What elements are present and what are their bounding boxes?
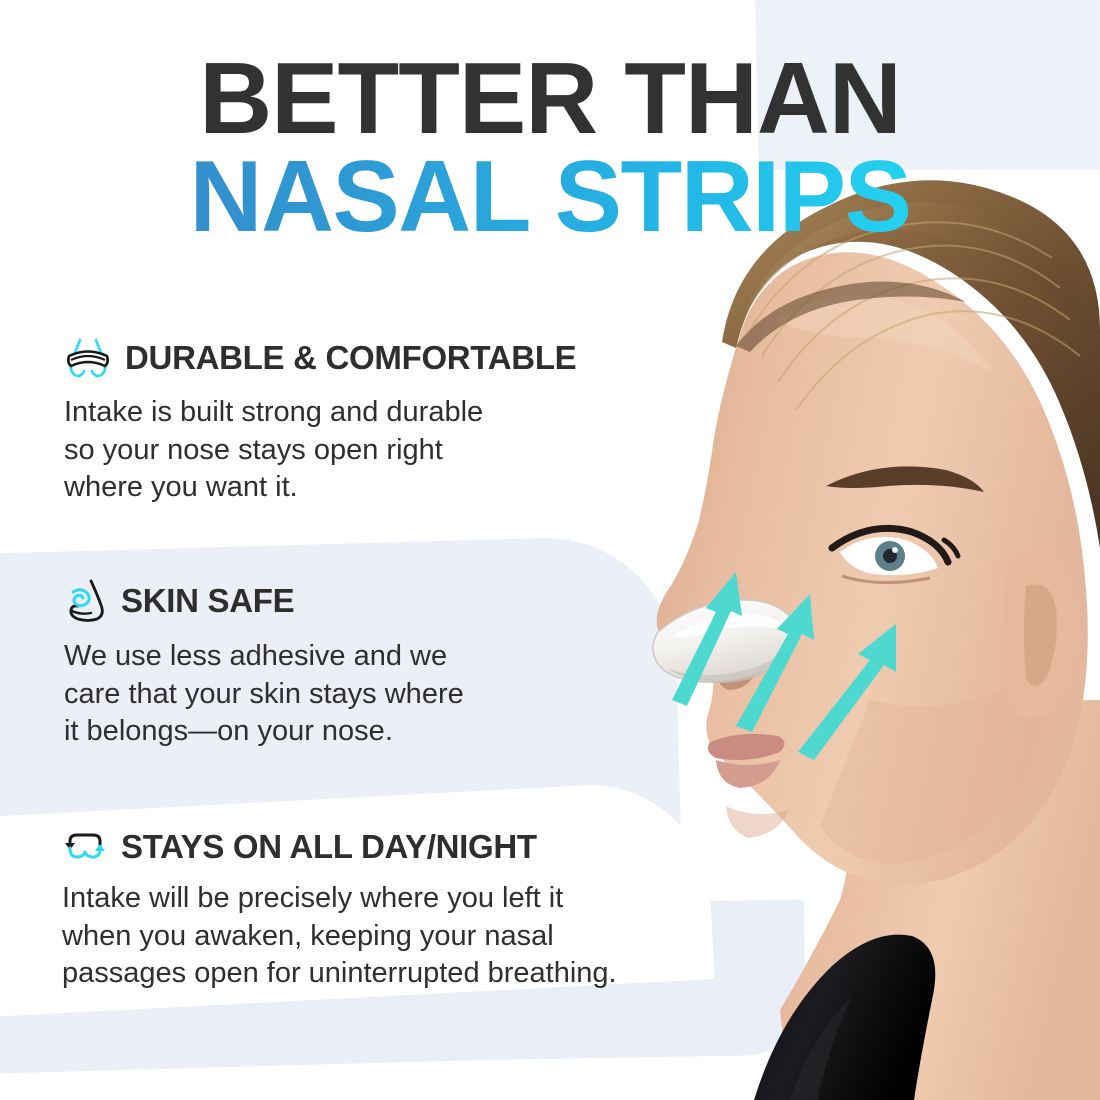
feature-heading-row: SKIN SAFE [64, 578, 464, 624]
day-night-cycle-icon [62, 828, 108, 866]
feature-block-skin-safe: SKIN SAFE We use less adhesive and we ca… [64, 578, 464, 751]
page-title: BETTER THAN NASAL STRIPS [0, 52, 1100, 248]
skin-swirl [73, 590, 89, 606]
feature-block-durable-comfortable: DURABLE & COMFORTABLE Intake is built st… [64, 336, 576, 507]
feature-body: We use less adhesive and we care that yo… [64, 638, 464, 751]
infographic-canvas: BETTER THAN NASAL STRIPS DURABLE & COMFO… [0, 0, 1100, 1100]
nose-profile-skin-swirl-icon [64, 578, 108, 624]
feature-heading-row: STAYS ON ALL DAY/NIGHT [62, 828, 617, 866]
headline-line-1: BETTER THAN [0, 52, 1100, 147]
feature-heading-row: DURABLE & COMFORTABLE [64, 336, 576, 380]
headline-line-2: NASAL STRIPS [0, 147, 1100, 248]
nose-front-with-dilator-icon [64, 336, 112, 380]
feature-body: Intake will be precisely where you left … [62, 880, 617, 993]
feature-title: SKIN SAFE [121, 582, 294, 620]
feature-body: Intake is built strong and durable so yo… [64, 394, 576, 507]
feature-title: DURABLE & COMFORTABLE [125, 339, 576, 377]
feature-block-stays-on-all-day-night: STAYS ON ALL DAY/NIGHT Intake will be pr… [62, 828, 617, 993]
feature-title: STAYS ON ALL DAY/NIGHT [121, 828, 537, 866]
